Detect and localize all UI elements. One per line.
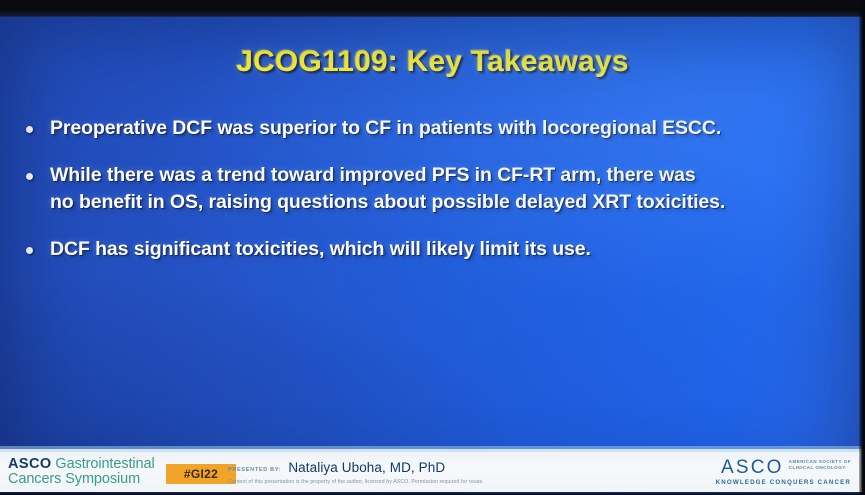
- bullet-text: DCF has significant toxicities, which wi…: [50, 236, 852, 263]
- bullet-line-2: no benefit in OS, raising questions abou…: [50, 189, 852, 216]
- screen-bezel-right: [859, 0, 865, 495]
- screen-bezel-top: [0, 0, 865, 18]
- asco-corporate-wordmark: ASCO: [721, 458, 784, 477]
- slide-canvas: JCOG1109: Key Takeaways Preoperative DCF…: [0, 17, 865, 495]
- bullet-line-1: Preoperative DCF was superior to CF in p…: [50, 117, 721, 139]
- bullet-text: Preoperative DCF was superior to CF in p…: [50, 115, 852, 142]
- presented-by-label: PRESENTED BY:: [228, 467, 281, 473]
- asco-gi-logo-line-1: ASCO Gastrointestinal: [8, 457, 155, 472]
- slide-title: JCOG1109: Key Takeaways: [0, 45, 865, 79]
- asco-corporate-subtitle: AMERICAN SOCIETY OF CLINICAL ONCOLOGY: [789, 459, 851, 471]
- asco-corporate-subtitle-line-2: CLINICAL ONCOLOGY: [789, 465, 846, 470]
- asco-gi-logo-line-2: Cancers Symposium: [8, 472, 155, 487]
- bullet-dot-icon: [26, 173, 33, 180]
- bullet-dot-icon: [26, 247, 33, 254]
- bullet-dot-icon: [26, 126, 33, 133]
- asco-tagline: KNOWLEDGE CONQUERS CANCER: [716, 479, 851, 486]
- bullet-line-1: DCF has significant toxicities, which wi…: [50, 238, 591, 260]
- asco-gi-logo-subtitle: Gastrointestinal: [52, 456, 155, 472]
- slide-footer-bar: ASCO Gastrointestinal Cancers Symposium …: [0, 449, 865, 492]
- presentation-slide-photo: JCOG1109: Key Takeaways Preoperative DCF…: [0, 0, 865, 495]
- hashtag-badge: #GI22: [166, 464, 236, 484]
- slide-bullet-list: Preoperative DCF was superior to CF in p…: [22, 115, 852, 283]
- copyright-notice: Content of this presentation is the prop…: [228, 479, 484, 485]
- bullet-line-1: While there was a trend toward improved …: [50, 164, 696, 186]
- presented-by-row: PRESENTED BY: Nataliya Uboha, MD, PhD: [228, 460, 484, 475]
- asco-wordmark: ASCO: [8, 456, 52, 472]
- presenter-name: Nataliya Uboha, MD, PhD: [288, 460, 445, 475]
- asco-corporate-logo-top: ASCO AMERICAN SOCIETY OF CLINICAL ONCOLO…: [716, 458, 851, 477]
- bullet-item: DCF has significant toxicities, which wi…: [22, 236, 852, 263]
- presenter-block: PRESENTED BY: Nataliya Uboha, MD, PhD Co…: [228, 460, 484, 485]
- asco-corporate-subtitle-line-1: AMERICAN SOCIETY OF: [789, 459, 851, 464]
- bullet-item: Preoperative DCF was superior to CF in p…: [22, 115, 852, 142]
- asco-corporate-logo: ASCO AMERICAN SOCIETY OF CLINICAL ONCOLO…: [716, 458, 851, 486]
- bullet-text: While there was a trend toward improved …: [50, 162, 852, 216]
- asco-gi-symposium-logo: ASCO Gastrointestinal Cancers Symposium: [8, 457, 155, 487]
- bullet-item: While there was a trend toward improved …: [22, 162, 852, 216]
